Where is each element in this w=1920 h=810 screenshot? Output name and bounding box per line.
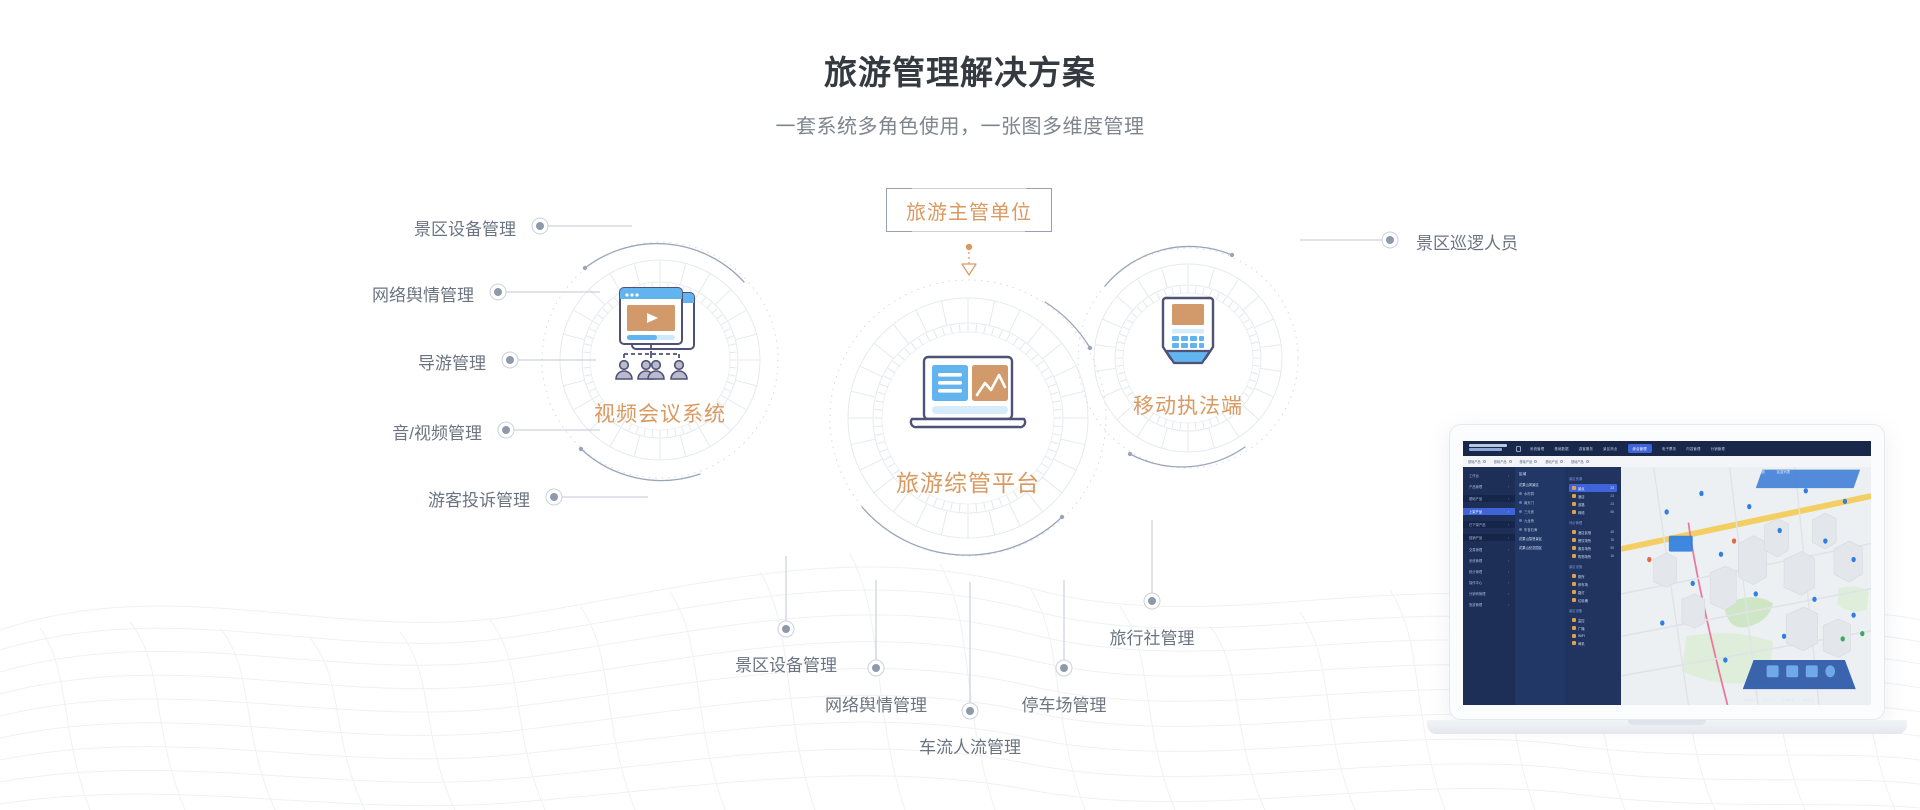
chevron-right-icon: ›	[1508, 523, 1509, 527]
category-icon	[1572, 598, 1576, 602]
app-logo-icon	[1469, 444, 1507, 453]
authority-arrow	[962, 244, 976, 275]
chevron-right-icon: ›	[1508, 570, 1509, 574]
sidebar-item[interactable]: 工作台›	[1463, 473, 1515, 478]
app-tab[interactable]: 基础产品	[1571, 459, 1589, 464]
bullet-icon	[1519, 510, 1522, 513]
page-root: 旅游管理解决方案 一套系统多角色使用，一张图多维度管理	[0, 0, 1920, 810]
app-region-tree: 区域 花果山风景区水帘洞南天门三元宫九龙桥朱雀石海花果山智慧景区花果山纪念园区	[1515, 467, 1565, 705]
chevron-right-icon: ›	[1508, 485, 1509, 489]
menu-toggle-icon[interactable]	[1516, 446, 1521, 452]
map-control-button[interactable]: 区县列表	[1777, 469, 1791, 474]
app-tab[interactable]: 基础产品	[1468, 459, 1486, 464]
category-item[interactable]: 酒店民宿45	[1569, 528, 1617, 536]
app-tab[interactable]: 基础产品	[1545, 459, 1563, 464]
tree-node[interactable]: 九龙桥	[1519, 518, 1561, 523]
category-group-list: 景区资源景点23酒店23道路23网络56评价管理酒店民宿45餐饮场所78服务场所…	[1569, 476, 1617, 647]
category-item[interactable]: 网络56	[1569, 508, 1617, 516]
node-dot	[498, 422, 514, 438]
label-right-1[interactable]: 景区巡逻人员	[1416, 229, 1518, 254]
category-item[interactable]: 监控	[1569, 616, 1617, 624]
category-icon	[1572, 574, 1576, 578]
label-left-2[interactable]: 网络舆情管理	[372, 281, 474, 306]
app-tab[interactable]: 基础产品	[1494, 459, 1512, 464]
map-footer-button[interactable]: 云端管理	[1782, 697, 1794, 702]
tree-node[interactable]: 朱雀石海	[1519, 527, 1561, 532]
app-tab[interactable]: 基础产品	[1520, 459, 1538, 464]
chevron-right-icon: ›	[1508, 603, 1509, 607]
category-icon	[1572, 626, 1576, 630]
app-body: 工作台›产品管理›基础产品›上架产品›已下架产品›促销产品›交易管理›系统管理›…	[1463, 467, 1871, 705]
ring-label-tourism-platform: 旅游综管平台	[896, 464, 1040, 498]
node-dot	[962, 703, 978, 719]
chevron-right-icon: ›	[1508, 581, 1509, 585]
label-bottom-2[interactable]: 网络舆情管理	[825, 691, 927, 716]
app-nav-item[interactable]: 景区商业	[1603, 446, 1617, 451]
app-nav-item[interactable]: 内容管理	[1686, 446, 1700, 451]
map-footer-button[interactable]: 舆情监测	[1802, 697, 1814, 702]
app-nav-item[interactable]: 系统管理	[1530, 446, 1544, 451]
category-group-title: 评价管理	[1569, 520, 1617, 525]
tree-node-list: 花果山风景区水帘洞南天门三元宫九龙桥朱雀石海花果山智慧景区花果山纪念园区	[1519, 482, 1561, 550]
category-group-title: 景区设备	[1569, 608, 1617, 613]
laptop-notch	[1628, 720, 1706, 725]
sidebar-item[interactable]: 统计管理›	[1463, 569, 1515, 574]
bullet-icon	[1519, 501, 1522, 504]
laptop-screen: 系统管理基础数据游客服务景区商业综合管理电子票务内容管理分销管理 基础产品基础产…	[1463, 441, 1871, 705]
sidebar-item[interactable]: 已下架产品›	[1463, 521, 1515, 528]
bullet-icon	[1519, 519, 1522, 522]
category-icon	[1572, 590, 1576, 594]
laptop-lid: 系统管理基础数据游客服务景区商业综合管理电子票务内容管理分销管理 基础产品基础产…	[1449, 424, 1885, 720]
category-icon	[1572, 510, 1576, 514]
app-nav-item[interactable]: 基础数据	[1554, 446, 1568, 451]
chevron-right-icon: ›	[1508, 497, 1509, 501]
category-item[interactable]: 道路23	[1569, 500, 1617, 508]
app-tabstrip: 基础产品基础产品基础产品基础产品基础产品	[1463, 456, 1871, 467]
node-dot	[490, 284, 506, 300]
label-bottom-3[interactable]: 车流人流管理	[919, 733, 1021, 758]
bullet-icon	[1519, 528, 1522, 531]
close-icon[interactable]	[1560, 460, 1563, 463]
map-control-button[interactable]: 景区地图	[1751, 469, 1765, 474]
sidebar-item[interactable]: 上架产品›	[1463, 508, 1515, 515]
chevron-right-icon: ›	[1508, 592, 1509, 596]
node-dot	[778, 621, 794, 637]
category-item[interactable]: 酒店23	[1569, 492, 1617, 500]
authority-box[interactable]: 旅游主管单位	[886, 188, 1052, 232]
node-dot	[1056, 660, 1072, 676]
category-item[interactable]: 景点23	[1569, 484, 1617, 492]
category-icon	[1572, 546, 1576, 550]
app-map-view[interactable]: 景区地图区县列表 通知中心事件处置云端管理舆情监测	[1621, 467, 1871, 705]
category-icon	[1572, 538, 1576, 542]
chevron-right-icon: ›	[1508, 548, 1509, 552]
ring-label-mobile-enforcement: 移动执法端	[1133, 390, 1243, 420]
close-icon[interactable]	[1534, 460, 1537, 463]
category-group-title: 景区设施	[1569, 564, 1617, 569]
app-nav-item[interactable]: 电子票务	[1662, 446, 1676, 451]
category-item[interactable]: 停车场	[1569, 580, 1617, 588]
tree-node[interactable]: 南天门	[1519, 500, 1561, 505]
category-item[interactable]: 服务场所95	[1569, 544, 1617, 552]
label-bottom-4[interactable]: 停车场管理	[1022, 691, 1107, 716]
category-item[interactable]: WIFI	[1569, 632, 1617, 639]
chevron-right-icon: ›	[1508, 474, 1509, 478]
node-dot	[546, 489, 562, 505]
category-icon	[1572, 618, 1576, 622]
ring-video-conference	[542, 242, 778, 481]
app-nav-item[interactable]: 分销管理	[1711, 446, 1725, 451]
mobile-terminal-icon	[1163, 298, 1213, 363]
category-item[interactable]: 路灯	[1569, 588, 1617, 596]
sidebar-item[interactable]: 促销产品›	[1463, 534, 1515, 541]
category-icon	[1572, 486, 1576, 490]
category-icon	[1572, 641, 1576, 645]
category-group-title: 景区资源	[1569, 476, 1617, 481]
label-left-4[interactable]: 音/视频管理	[392, 419, 482, 444]
sidebar-item[interactable]: 基础产品›	[1463, 495, 1515, 502]
sidebar-item[interactable]: 交易管理›	[1463, 547, 1515, 552]
map-control-bar[interactable]: 景区地图区县列表	[1751, 469, 1790, 474]
label-bottom-5[interactable]: 旅行社管理	[1110, 624, 1195, 649]
node-dot	[1382, 232, 1398, 248]
authority-label: 旅游主管单位	[906, 196, 1032, 225]
laptop-mockup: 系统管理基础数据游客服务景区商业综合管理电子票务内容管理分销管理 基础产品基础产…	[1427, 424, 1907, 764]
category-item[interactable]: 垃圾桶	[1569, 596, 1617, 604]
sidebar-item[interactable]: 系统管理›	[1463, 558, 1515, 563]
tree-node[interactable]: 水帘洞	[1519, 491, 1561, 496]
laptop-chart-icon	[911, 357, 1025, 427]
map-footer-button[interactable]: 通知中心	[1744, 697, 1756, 702]
sidebar-item[interactable]: 分销商管理›	[1463, 591, 1515, 596]
ring-label-video-conference: 视频会议系统	[594, 398, 726, 428]
tree-node[interactable]: 花果山风景区	[1519, 482, 1561, 487]
chevron-right-icon: ›	[1508, 559, 1509, 563]
app-category-panel: 景区资源景点23酒店23道路23网络56评价管理酒店民宿45餐饮场所78服务场所…	[1565, 467, 1621, 705]
category-item[interactable]: 厕所	[1569, 572, 1617, 580]
label-left-5[interactable]: 游客投诉管理	[428, 486, 530, 511]
bullet-icon	[1519, 492, 1522, 495]
category-icon	[1572, 530, 1576, 534]
node-dot	[868, 660, 884, 676]
node-dot	[532, 218, 548, 234]
sidebar-item[interactable]: 产品管理›	[1463, 484, 1515, 489]
tree-node[interactable]: 三元宫	[1519, 509, 1561, 514]
map-footer-button[interactable]: 事件处置	[1763, 697, 1775, 702]
category-item[interactable]: 购物场所16	[1569, 552, 1617, 560]
category-icon	[1572, 502, 1576, 506]
node-dot	[1144, 593, 1160, 609]
video-window-icon	[616, 288, 694, 379]
tree-node[interactable]: 花果山智慧景区	[1519, 536, 1561, 541]
chevron-right-icon: ›	[1508, 510, 1509, 514]
bottom-connector-lines	[786, 520, 1152, 703]
category-icon	[1572, 554, 1576, 558]
label-left-1[interactable]: 景区设备管理	[414, 215, 516, 240]
category-icon	[1572, 634, 1576, 638]
category-item[interactable]: 广播	[1569, 624, 1617, 632]
tree-title: 区域	[1519, 472, 1561, 477]
chevron-right-icon: ›	[1508, 536, 1509, 540]
close-icon[interactable]	[1586, 460, 1589, 463]
node-dot	[502, 352, 518, 368]
app-sidebar: 工作台›产品管理›基础产品›上架产品›已下架产品›促销产品›交易管理›系统管理›…	[1463, 467, 1515, 705]
category-item[interactable]: 闸机	[1569, 639, 1617, 647]
category-icon	[1572, 494, 1576, 498]
label-bottom-1[interactable]: 景区设备管理	[735, 651, 837, 676]
app-topbar: 系统管理基础数据游客服务景区商业综合管理电子票务内容管理分销管理	[1463, 441, 1871, 456]
tree-node[interactable]: 花果山纪念园区	[1519, 545, 1561, 550]
close-icon[interactable]	[1483, 460, 1486, 463]
label-left-3[interactable]: 导游管理	[418, 349, 486, 374]
app-nav-item[interactable]: 游客服务	[1579, 446, 1593, 451]
sidebar-item[interactable]: 操作中心›	[1463, 580, 1515, 585]
map-footer-bar[interactable]: 通知中心事件处置云端管理舆情监测	[1744, 697, 1815, 702]
sidebar-item[interactable]: 旅游管理›	[1463, 602, 1515, 607]
app-nav: 系统管理基础数据游客服务景区商业综合管理电子票务内容管理分销管理	[1530, 444, 1725, 453]
app-tabs: 基础产品基础产品基础产品基础产品基础产品	[1468, 459, 1589, 464]
close-icon[interactable]	[1509, 460, 1512, 463]
app-nav-item[interactable]: 综合管理	[1628, 444, 1652, 453]
category-icon	[1572, 582, 1576, 586]
category-item[interactable]: 餐饮场所78	[1569, 536, 1617, 544]
